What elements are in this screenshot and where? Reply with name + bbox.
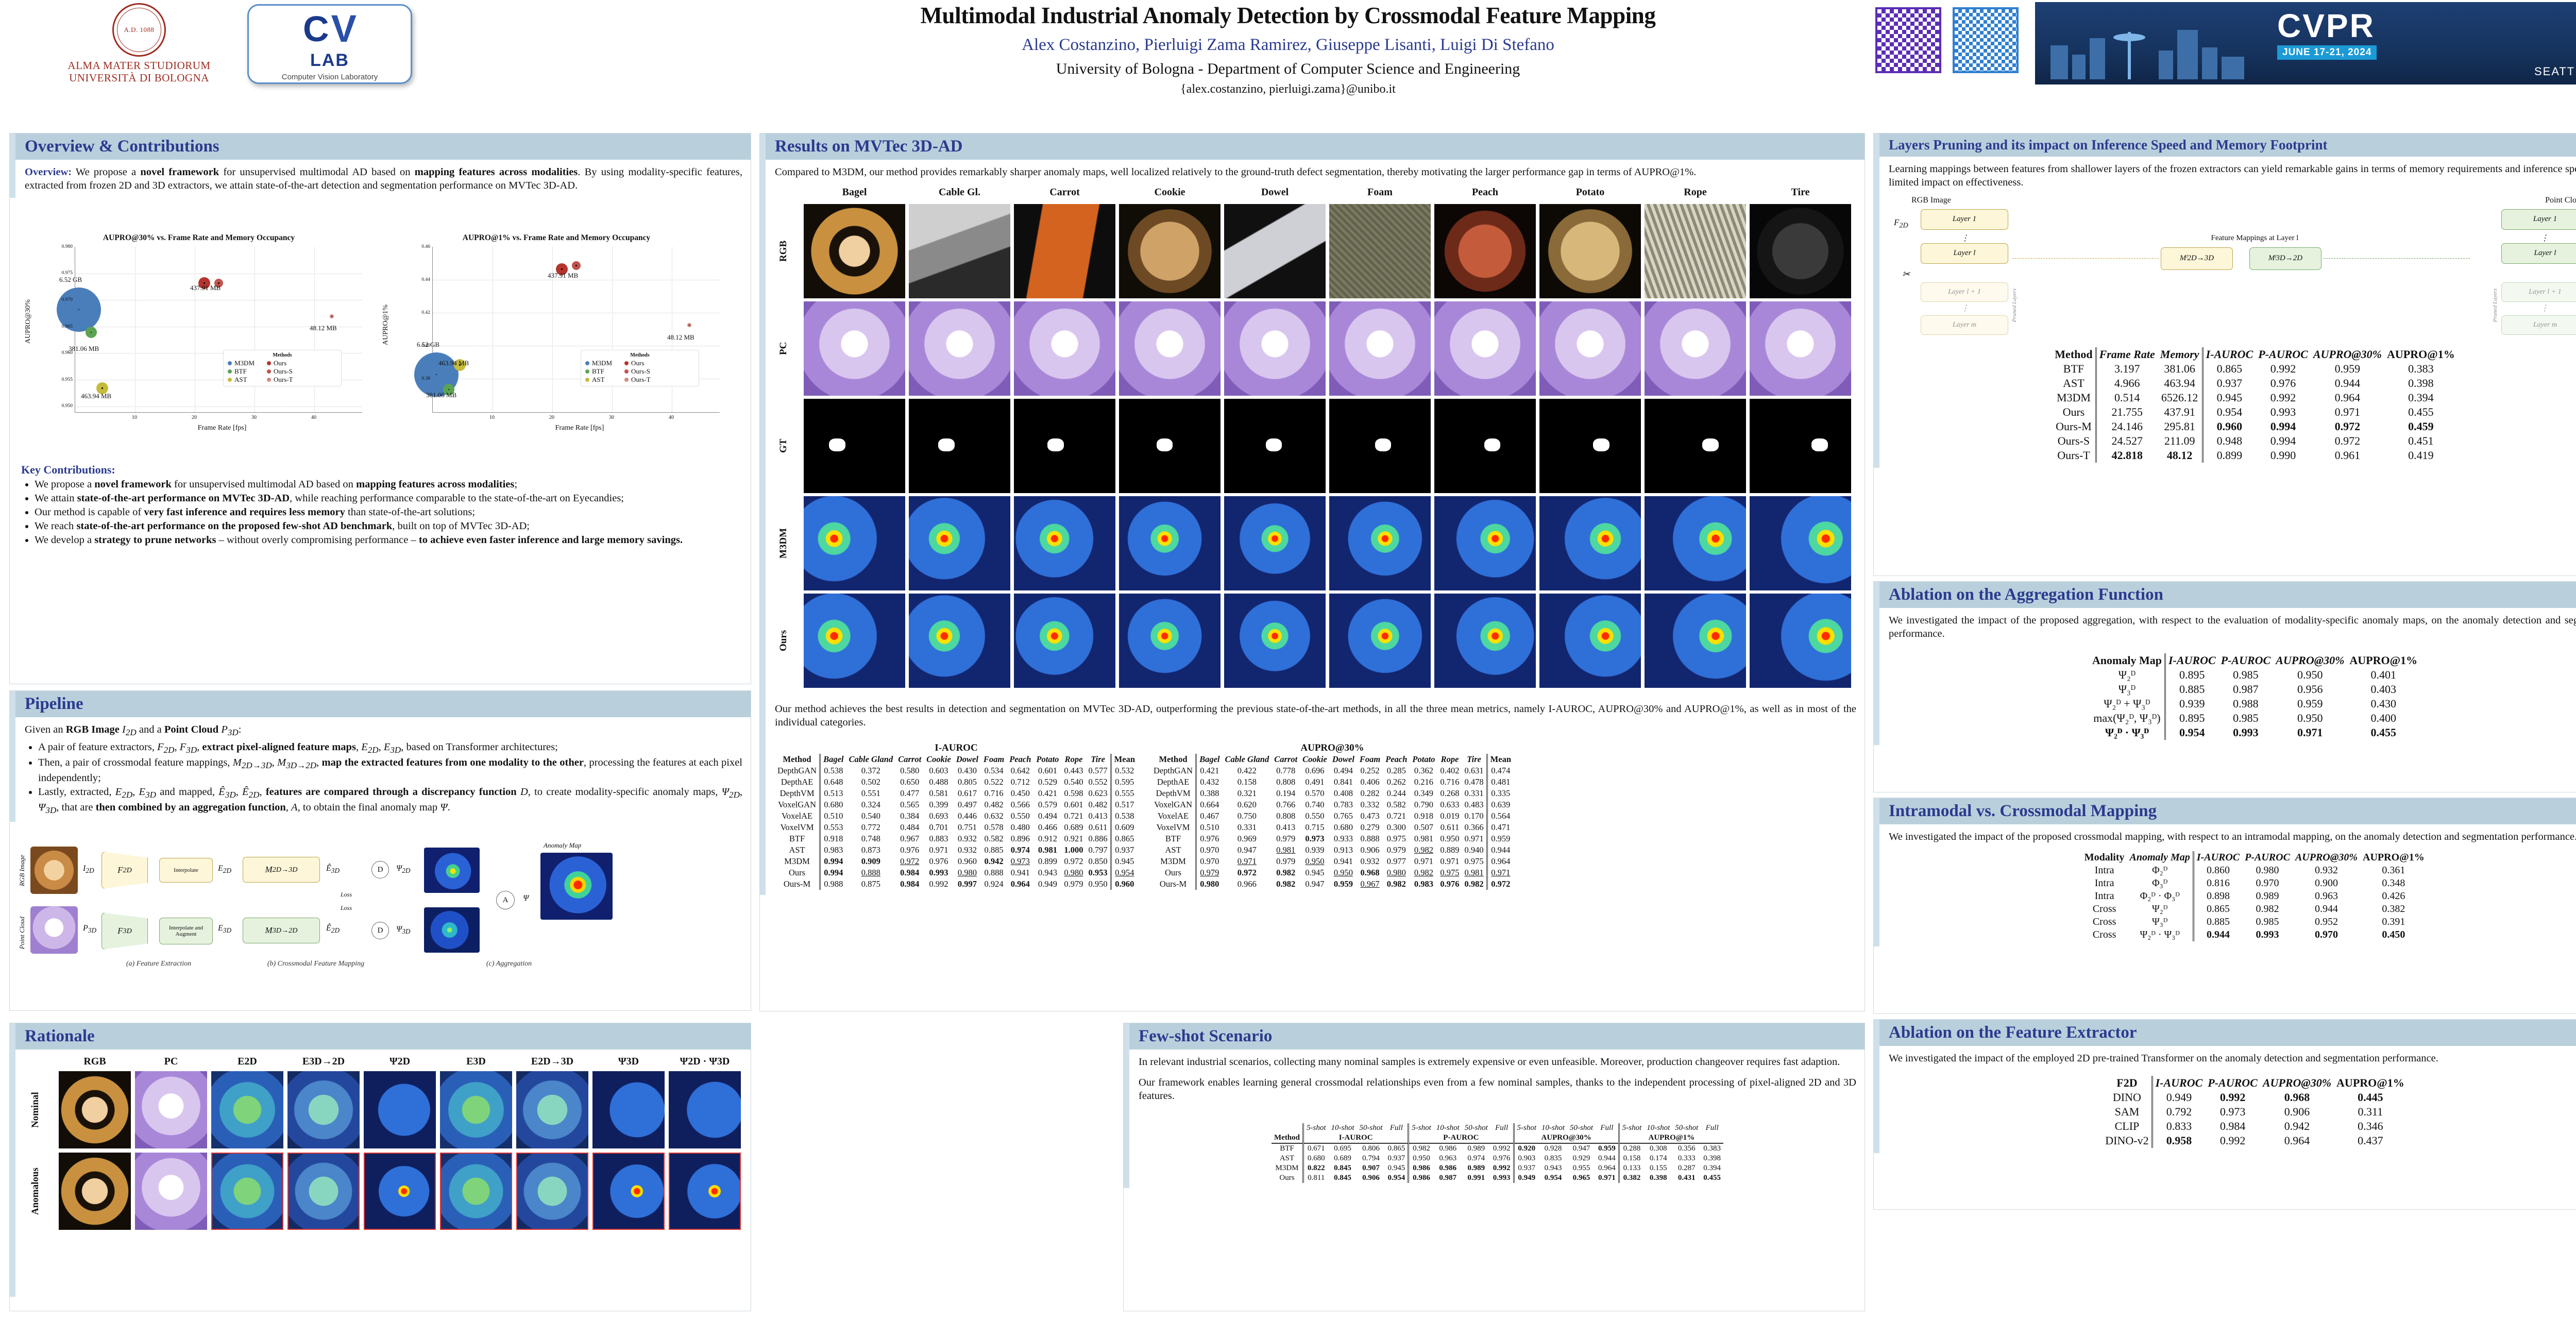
table-cell: VoxelAE	[775, 810, 820, 822]
table-column-header: Method	[1151, 754, 1196, 765]
cvpr-banner: CVPR JUNE 17-21, 2024 SEATTLE, WA	[2035, 2, 2576, 84]
table-cell: 0.971	[2273, 725, 2347, 740]
table-cell: 0.886	[1086, 833, 1111, 844]
fewshot-shot-header-row: 5-shot10-shot50-shotFull5-shot10-shot50-…	[1272, 1123, 1723, 1133]
table-cell: DepthGAN	[775, 765, 820, 776]
fewshot-cell: 0.949	[1514, 1173, 1539, 1183]
table-cell: 0.751	[954, 822, 981, 833]
pruning-f2d-label: F2D	[1894, 217, 1908, 230]
pipeline-final-anomaly-map	[540, 853, 613, 920]
title-block: Multimodal Industrial Anomaly Detection …	[711, 2, 1865, 96]
table-cell: 0.979	[1272, 856, 1300, 867]
cvpr-text-block: CVPR JUNE 17-21, 2024	[2277, 9, 2377, 60]
panel-pipeline-heading: Pipeline	[10, 691, 751, 717]
panel-ablation-cross-heading: Intramodal vs. Crossmodal Mapping	[1874, 798, 2576, 824]
table-cell: 0.748	[846, 833, 896, 844]
rationale-column-header: Ψ2D	[364, 1056, 436, 1068]
table-cell: 0.361	[2360, 864, 2427, 877]
table-column-header: Peach	[1007, 754, 1033, 765]
table-row: Ψ₂ᴰ0.8950.9850.9500.401	[2090, 668, 2420, 682]
pruning-table: MethodFrame RateMemoryI-AUROCP-AUROCAUPR…	[2052, 347, 2457, 463]
table-cell: 1.000	[1061, 844, 1086, 856]
results-grid-cell	[1645, 594, 1746, 688]
chart2-legend-m3dm: M3DM	[585, 359, 618, 367]
table-cell: 6526.12	[2158, 391, 2202, 405]
table-cell: 0.680	[1330, 822, 1357, 833]
table-cell: Ψ₃ᴰ	[2090, 682, 2165, 697]
table-cell: 437.91	[2158, 405, 2202, 419]
table-cell: Ψ₂ᴰ · Ψ₃ᴰ	[2090, 725, 2165, 740]
table-cell: 295.81	[2158, 419, 2202, 434]
table-cell: 0.992	[924, 878, 954, 890]
table-cell: 0.445	[2334, 1090, 2407, 1105]
table-cell: 0.766	[1272, 799, 1300, 810]
pipeline-discrepancy-node-3d: D	[371, 922, 389, 939]
fewshot-cell: 0.398	[1701, 1154, 1723, 1163]
table-cell: 0.982	[1462, 878, 1487, 890]
cvlab-subtitle: Computer Vision Laboratory	[282, 73, 378, 81]
table-cell: 0.979	[1272, 833, 1300, 844]
table-row: CrossΨ₂ᴰ0.8650.9820.9440.382	[2082, 903, 2427, 916]
chart1-label-m3dm: 6.52 GB	[59, 276, 82, 284]
table-cell: 0.933	[1330, 833, 1357, 844]
table-column-header: Memory	[2158, 347, 2202, 362]
table-cell: 0.889	[1437, 844, 1462, 856]
panel-rationale-heading: Rationale	[10, 1023, 751, 1050]
table-cell: 0.947	[1300, 878, 1330, 890]
table-cell: 0.282	[1357, 788, 1383, 799]
contribution-item: Our method is capable of very fast infer…	[35, 505, 737, 519]
aupro30-table: MethodBagelCable GlandCarrotCookieDowelF…	[1151, 754, 1514, 890]
table-cell: 0.772	[846, 822, 896, 833]
table-cell: 0.885	[2193, 916, 2242, 928]
table-cell: 0.252	[1357, 765, 1383, 776]
results-grid-cell	[804, 204, 905, 298]
table-cell: 0.382	[2360, 903, 2427, 916]
fewshot-row: BTF0.6710.6950.8060.8650.9820.9860.9890.…	[1272, 1143, 1723, 1154]
fewshot-shot-header: 10-shot	[1329, 1123, 1357, 1133]
fewshot-shot-header: 10-shot	[1644, 1123, 1672, 1133]
fewshot-cell: 0.398	[1644, 1173, 1672, 1183]
table-column-header: Tire	[1086, 754, 1111, 765]
table-column-header: AUPRO@1%	[2360, 851, 2427, 864]
rationale-grid-cell	[440, 1153, 512, 1230]
fewshot-cell: 0.965	[1567, 1173, 1596, 1183]
chart1-legend-ours-t: Ours-T	[267, 376, 300, 384]
qr-code-project[interactable]	[1953, 7, 2019, 73]
table-cell: 0.550	[1007, 810, 1033, 822]
fewshot-shot-header: Full	[1596, 1123, 1619, 1133]
pruning-scissors-left-icon: ✂	[1902, 269, 1910, 280]
table-row: DepthAE0.4320.1580.8080.4910.8410.4060.2…	[1151, 776, 1514, 788]
table-cell: 0.954	[2165, 725, 2218, 740]
table-column-header: Tire	[1462, 754, 1487, 765]
table-cell: 0.321	[1223, 788, 1272, 799]
table-row: AST0.9700.9470.9810.9390.9130.9060.9790.…	[1151, 844, 1514, 856]
table-column-header: AUPRO@1%	[2334, 1076, 2407, 1090]
table-row: DepthGAN0.4210.4220.7780.6960.4940.2520.…	[1151, 765, 1514, 776]
table-cell: 0.982	[1410, 867, 1437, 878]
table-cell: 0.981	[1462, 867, 1487, 878]
table-column-header: Anomaly Map	[2090, 653, 2165, 668]
pipeline-anomaly-map-label: Anomaly Map	[544, 841, 581, 850]
fewshot-cell: 0.987	[1434, 1173, 1462, 1183]
table-cell: 0.311	[2334, 1105, 2407, 1119]
table-cell: 0.507	[1410, 822, 1437, 833]
table-column-header: Dowel	[1330, 754, 1357, 765]
rationale-grid-cell	[364, 1071, 436, 1148]
fewshot-group-header: P-AUROC	[1409, 1133, 1514, 1143]
table-cell: 0.981	[1033, 844, 1061, 856]
pipeline-caption-a: (a) Feature Extraction	[99, 960, 218, 968]
panel-pruning: Layers Pruning and its impact on Inferen…	[1873, 133, 2576, 576]
pruning-arrow-left	[2012, 258, 2159, 259]
table-cell: 0.494	[1330, 765, 1357, 776]
table-cell: 0.481	[1487, 776, 1514, 788]
table-row: DepthGAN0.5380.3720.5800.6030.4300.5340.…	[775, 765, 1138, 776]
table-cell: 0.467	[1196, 810, 1223, 822]
table-cell: 0.421	[1196, 765, 1223, 776]
table-cell: 0.979	[1383, 844, 1410, 856]
results-grid-cell	[1224, 204, 1326, 298]
fewshot-method-cell: AST	[1272, 1154, 1303, 1163]
table-cell: 0.937	[1111, 844, 1138, 856]
table-cell: M3DM	[1151, 856, 1196, 867]
results-grid-cell	[1434, 399, 1536, 493]
table-column-header: I-AUROC	[2165, 653, 2218, 668]
pruning-left-dots-2: ⋮	[1961, 303, 1969, 313]
cvpr-name: CVPR	[2277, 9, 2377, 42]
rationale-grid-cell	[211, 1153, 283, 1230]
table-column-header: P-AUROC	[2256, 347, 2311, 362]
table-cell: 0.419	[2384, 448, 2458, 463]
contact-email: {alex.costanzino, pierluigi.zama}@unibo.…	[711, 82, 1865, 96]
results-grid-cell	[1119, 301, 1221, 396]
table-cell: 0.696	[1300, 765, 1330, 776]
table-cell: 0.942	[981, 856, 1007, 867]
fewshot-cell: 0.991	[1462, 1173, 1490, 1183]
table-cell: 0.982	[1410, 844, 1437, 856]
rationale-grid-cell	[669, 1071, 741, 1148]
table-cell: 0.975	[1462, 856, 1487, 867]
table-cell: 0.973	[2205, 1105, 2260, 1119]
table-cell: 0.906	[2260, 1105, 2334, 1119]
table-row: VoxelGAN0.6800.3240.5650.3990.4970.4820.…	[775, 799, 1138, 810]
table-cell: Ψ₂ᴰ + Ψ₃ᴰ	[2090, 697, 2165, 711]
table-cell: 0.939	[2165, 697, 2218, 711]
results-intro: Compared to M3DM, our method provides re…	[775, 166, 1856, 179]
fewshot-cell: 0.903	[1514, 1154, 1539, 1163]
chart2-legend-title: Methods	[585, 352, 694, 358]
chart2-legend-ours-s-label: Ours-S	[631, 367, 650, 376]
table-cell: 0.979	[1061, 878, 1086, 890]
fewshot-cell: 0.986	[1434, 1143, 1462, 1154]
table-cell: 0.551	[846, 788, 896, 799]
table-cell: 463.94	[2158, 376, 2202, 391]
fewshot-cell: 0.963	[1434, 1154, 1462, 1163]
table-cell: Ours-T	[2052, 448, 2096, 463]
results-grid-cell	[804, 301, 905, 396]
panel-rationale: Rationale RGBPCE2DE3D→2DΨ2DE3DE2D→3DΨ3DΨ…	[9, 1023, 751, 1311]
table-cell: 0.422	[1223, 765, 1272, 776]
results-grid-cell	[1329, 399, 1431, 493]
fewshot-cell: 0.976	[1490, 1154, 1514, 1163]
chart1-ytick-5: 0.955	[53, 377, 73, 382]
chart1-label-ast: 463.94 MB	[81, 392, 111, 400]
fewshot-cell: 0.989	[1462, 1163, 1490, 1173]
results-column-header: Dowel	[1224, 187, 1326, 198]
table-cell: 0.455	[2384, 405, 2458, 419]
aupro30-table-block: AUPRO@30% MethodBagelCable GlandCarrotCo…	[1151, 742, 1514, 890]
rationale-grid-cell	[135, 1153, 207, 1230]
table-header-row: Anomaly MapI-AUROCP-AUROCAUPRO@30%AUPRO@…	[2090, 653, 2420, 668]
chart1-ytick-1: 0.975	[53, 270, 73, 276]
chart1-ytick-3: 0.965	[53, 324, 73, 329]
pruning-left-layer-l: Layer l	[1921, 243, 2008, 264]
chart1-legend-ours-label: Ours	[274, 359, 286, 367]
pipeline-step: A pair of feature extractors, F2D, F3D, …	[38, 740, 742, 756]
chart1-ytick-2: 0.970	[53, 297, 73, 302]
pruning-mapping-caption: Feature Mappings at Layer l	[2211, 234, 2299, 243]
panel-intramodal-vs-crossmodal: Intramodal vs. Crossmodal Mapping We inv…	[1873, 798, 2576, 1014]
table-cell: 0.494	[1033, 810, 1061, 822]
panel-results: Results on MVTec 3D-AD Compared to M3DM,…	[759, 133, 1865, 1011]
results-image-grid: BagelCable Gl.CarrotCookieDowelFoamPeach…	[775, 187, 1856, 702]
pipeline-m3d2d-box: M3D→2D	[243, 918, 320, 943]
fewshot-cell: 0.993	[1490, 1173, 1514, 1183]
table-column-header: I-AUROC	[2202, 347, 2256, 362]
chart2-ytick-2: 0.42	[411, 310, 430, 315]
chart1-xtick-1: 20	[187, 415, 202, 420]
table-cell: 0.019	[1437, 810, 1462, 822]
results-grid-cell	[1645, 204, 1746, 298]
pipeline-rgb-image-label: RGB Image	[18, 855, 26, 886]
chart2-legend-ast: AST	[585, 376, 618, 384]
chart1-xtick-0: 10	[127, 415, 142, 420]
chart1-title: AUPRO@30% vs. Frame Rate and Memory Occu…	[21, 233, 377, 243]
chart2-legend: Methods M3DM Ours BTF Ours-S AST Ours-T	[581, 350, 699, 386]
table-cell: 0.988	[2218, 697, 2274, 711]
table-cell: 0.805	[954, 776, 981, 788]
contribution-item: We reach state-of-the-art performance on…	[35, 519, 737, 533]
key-contributions-heading: Key Contributions:	[21, 463, 737, 477]
table-cell: 0.906	[1357, 844, 1383, 856]
table-cell: 0.633	[1437, 799, 1462, 810]
panel-ablation-aggregation: Ablation on the Aggregation Function We …	[1873, 581, 2576, 792]
fewshot-cell: 0.680	[1303, 1154, 1329, 1163]
fewshot-cell: 0.394	[1701, 1163, 1723, 1173]
table-cell: 0.983	[820, 844, 846, 856]
contribution-item: We propose a novel framework for unsuper…	[35, 478, 737, 491]
results-grid-cell	[909, 496, 1010, 590]
fewshot-cell: 0.920	[1514, 1143, 1539, 1154]
table-cell: 0.582	[981, 833, 1007, 844]
table-cell: 24.527	[2096, 434, 2158, 448]
table-cell: 0.740	[1300, 799, 1330, 810]
results-grid-cell	[1119, 399, 1221, 493]
table-cell: 0.988	[820, 878, 846, 890]
table-row: CrossΨ₃ᴰ0.8850.9850.9520.391	[2082, 916, 2427, 928]
table-cell: Ours-M	[2052, 419, 2096, 434]
fewshot-cell: 0.959	[1596, 1143, 1619, 1154]
table-cell: Ours	[1151, 867, 1196, 878]
table-cell: 0.534	[981, 765, 1007, 776]
table-cell: DepthVM	[775, 788, 820, 799]
results-grid-cell	[1119, 594, 1221, 688]
table-cell: 0.577	[1086, 765, 1111, 776]
fewshot-cell: 0.907	[1357, 1163, 1385, 1173]
table-cell: 0.983	[1410, 878, 1437, 890]
table-column-header: P-AUROC	[2242, 851, 2293, 864]
fewshot-cell: 0.954	[1539, 1173, 1567, 1183]
results-grid-cell	[1539, 301, 1641, 396]
table-row: Ours0.9790.9720.9820.9450.9500.9680.9800…	[1151, 867, 1514, 878]
seattle-skyline-icon	[2035, 2, 2257, 84]
table-cell: 0.331	[1223, 822, 1272, 833]
rationale-grid-cell	[364, 1153, 436, 1230]
table-cell: 0.980	[1383, 867, 1410, 878]
table-cell: 0.693	[924, 810, 954, 822]
table-row: IntraΦ₃ᴰ0.8160.9700.9000.348	[2082, 877, 2427, 890]
table-cell: 0.975	[1437, 867, 1462, 878]
pipeline-psi-final-label: Ψ	[523, 894, 529, 903]
results-grid-cell	[1119, 204, 1221, 298]
table-cell: 0.398	[2384, 376, 2458, 391]
chart1-legend-ast: AST	[228, 376, 261, 384]
fewshot-shot-header: 10-shot	[1434, 1123, 1462, 1133]
table-cell: 0.873	[846, 844, 896, 856]
table-column-header: I-AUROC	[2152, 1076, 2205, 1090]
table-cell: 0.483	[1462, 799, 1487, 810]
table-cell: 0.716	[981, 788, 1007, 799]
table-cell: 0.808	[1272, 810, 1300, 822]
fewshot-cell: 0.937	[1514, 1163, 1539, 1173]
chart1-legend-ours-s: Ours-S	[267, 367, 300, 376]
fewshot-cell: 0.906	[1357, 1173, 1385, 1183]
fewshot-cell: 0.822	[1303, 1163, 1329, 1173]
table-column-header: Cookie	[1300, 754, 1330, 765]
table-cell: 42.818	[2096, 448, 2158, 463]
table-cell: DepthGAN	[1151, 765, 1196, 776]
table-cell: 0.413	[1272, 822, 1300, 833]
chart2-ytick-1: 0.44	[411, 277, 430, 282]
table-cell: 0.565	[895, 799, 924, 810]
table-cell: 0.944	[2193, 928, 2242, 941]
table-cell: 0.335	[1487, 788, 1514, 799]
results-column-header: Peach	[1434, 187, 1536, 198]
fewshot-cell: 0.133	[1619, 1163, 1644, 1173]
table-cell: BTF	[775, 833, 820, 844]
pruning-diagram: RGB Image Point Cloud F2D F3D Layer 1 ⋮ …	[1889, 196, 2576, 345]
pipeline-diagram: RGB Image Point Cloud I2D P3D F2D F3D In…	[17, 840, 743, 969]
pruning-right-layer-m: Layer m	[2501, 315, 2576, 335]
fewshot-cell: 0.945	[1385, 1163, 1409, 1173]
table-cell: Cross	[2082, 916, 2127, 928]
fewshot-cell: 0.308	[1644, 1143, 1672, 1154]
chart1-ytick-0: 0.980	[53, 244, 73, 249]
table-cell: 0.443	[1061, 765, 1086, 776]
table-cell: 0.582	[1383, 799, 1410, 810]
results-grid-cell	[1750, 301, 1851, 396]
table-cell: 0.973	[1007, 856, 1033, 867]
pruning-right-pruned-label: Pruned Layers	[2492, 289, 2498, 322]
table-cell: 0.899	[1033, 856, 1061, 867]
table-cell: 0.990	[2256, 448, 2311, 463]
table-column-header: F2D	[2103, 1076, 2152, 1090]
pipeline-step: Then, a pair of crossmodal feature mappi…	[38, 756, 742, 785]
results-grid-cell	[1329, 594, 1431, 688]
results-row-header: GT	[778, 399, 789, 493]
pruning-m2d3d-label: Mˡ2D→3D	[2180, 254, 2214, 263]
pipeline-psi2d-label: Ψ2D	[396, 864, 411, 875]
results-grid-cell	[804, 594, 905, 688]
table-cell: 0.888	[846, 867, 896, 878]
qr-code-paper[interactable]	[1875, 7, 1941, 73]
table-cell: 0.885	[2165, 682, 2218, 697]
table-row: AST0.9830.8730.9760.9710.9320.8850.9740.…	[775, 844, 1138, 856]
fewshot-cell: 0.689	[1329, 1154, 1357, 1163]
chart2-legend-ours: Ours	[624, 359, 657, 367]
table-cell: 0.540	[1061, 776, 1086, 788]
table-cell: M3DM	[2052, 391, 2096, 405]
pipeline-e3d-hat-label: Ê3D	[326, 864, 340, 875]
table-cell: 0.960	[1111, 878, 1138, 890]
table-column-header: Modality	[2082, 851, 2127, 864]
table-cell: 0.540	[846, 810, 896, 822]
table-cell: 0.980	[2242, 864, 2293, 877]
panel-overview: Overview & Contributions Overview: We pr…	[9, 133, 751, 684]
table-cell: 21.755	[2096, 405, 2158, 419]
table-row: Ours21.755437.910.9540.9930.9710.455	[2052, 405, 2457, 419]
table-cell: 0.956	[2273, 682, 2347, 697]
table-cell: 0.950	[1086, 878, 1111, 890]
table-cell: 0.970	[1196, 856, 1223, 867]
fewshot-cell: 0.383	[1701, 1143, 1723, 1154]
fewshot-cell: 0.992	[1490, 1143, 1514, 1154]
table-cell: 0.976	[1196, 833, 1223, 844]
chart2-label-btf: 381.06 MB	[426, 391, 456, 399]
table-cell: 0.430	[954, 765, 981, 776]
chart2-legend-btf: BTF	[585, 367, 618, 376]
table-cell: 0.808	[1272, 776, 1300, 788]
table-cell: 0.949	[1033, 878, 1061, 890]
fewshot-cell: 0.950	[1409, 1154, 1434, 1163]
table-column-header: Cookie	[924, 754, 954, 765]
results-grid-cell	[1014, 496, 1115, 590]
table-column-header: Potato	[1410, 754, 1437, 765]
table-cell: 0.961	[2311, 448, 2384, 463]
chart2-ylabel: AUPRO@1%	[382, 305, 390, 345]
table-cell: 0.950	[1330, 867, 1357, 878]
table-column-header: Rope	[1061, 754, 1086, 765]
table-cell: 0.406	[1357, 776, 1383, 788]
table-cell: Ours-M	[1151, 878, 1196, 890]
table-cell: 0.482	[1086, 799, 1111, 810]
table-cell: 0.595	[1111, 776, 1138, 788]
table-cell: VoxelVM	[1151, 822, 1196, 833]
fewshot-method-cell: BTF	[1272, 1143, 1303, 1154]
results-grid-cell	[1645, 496, 1746, 590]
chart1-legend-ours: Ours	[267, 359, 300, 367]
table-header-row: ModalityAnomaly MapI-AUROCP-AUROCAUPRO@3…	[2082, 851, 2427, 864]
fewshot-cell: 0.287	[1672, 1163, 1701, 1173]
fewshot-cell: 0.288	[1619, 1143, 1644, 1154]
pipeline-e3d-label: E3D	[218, 924, 231, 935]
table-cell: 0.942	[2260, 1119, 2334, 1134]
table-row: Ours-T42.81848.120.8990.9900.9610.419	[2052, 448, 2457, 463]
cvlab-mark: C V	[303, 7, 357, 50]
table-cell: 48.12	[2158, 448, 2202, 463]
